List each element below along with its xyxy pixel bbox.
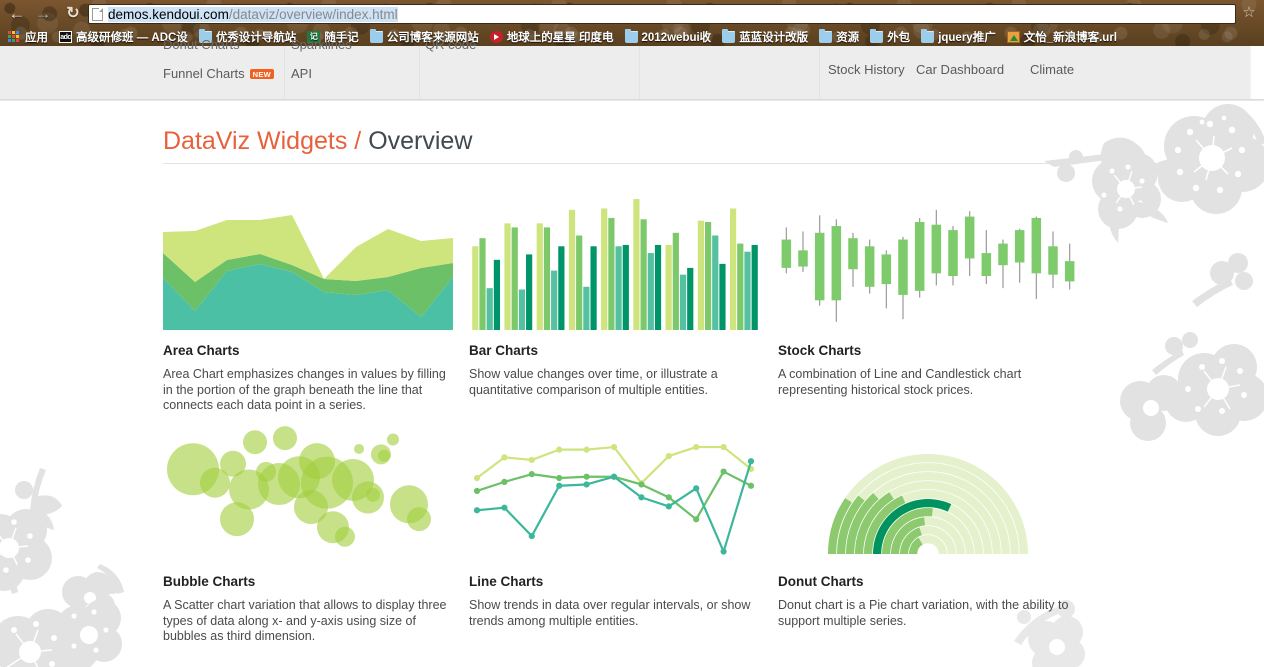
area-chart-thumbnail[interactable] xyxy=(163,195,453,330)
candle-body xyxy=(832,226,842,300)
forward-arrow-icon[interactable]: → xyxy=(32,3,54,25)
menu-column-5: Stock History Car Dashboard Climate xyxy=(820,46,1250,100)
line-marker xyxy=(638,494,644,500)
card-description: A combination of Line and Candlestick ch… xyxy=(778,367,1078,398)
bar-series-light xyxy=(698,221,704,330)
star-icon[interactable]: ☆ xyxy=(1240,4,1258,22)
bubble-chart-svg xyxy=(163,426,453,561)
bar-chart-svg xyxy=(469,195,759,330)
bar-series-teal xyxy=(680,275,686,330)
bar-series-light xyxy=(504,223,510,330)
page-document-icon xyxy=(92,8,103,21)
card-title: Line Charts xyxy=(469,574,759,589)
page-content: DataViz Widgets / Overview Area Charts A… xyxy=(0,101,1264,667)
line-marker xyxy=(638,481,644,487)
bar-series-light xyxy=(666,245,672,330)
page-title-subtitle: Overview xyxy=(368,127,472,155)
menu-column-3: QR code xyxy=(420,46,640,100)
card-area-charts[interactable]: Area Charts Area Chart emphasizes change… xyxy=(163,195,453,414)
bar-series-teal xyxy=(519,290,525,331)
bar-series-light xyxy=(633,199,639,330)
bar-series-green xyxy=(608,218,614,330)
menu-item-car-dashboard[interactable]: Car Dashboard xyxy=(916,62,1004,77)
bubble-point xyxy=(366,488,380,502)
bar-series-green xyxy=(673,233,679,330)
menu-item-api[interactable]: API xyxy=(291,66,312,81)
bar-series-teal xyxy=(551,271,557,330)
bar-series-green xyxy=(641,219,647,330)
bookmark-item[interactable]: jquery推广 xyxy=(921,29,996,45)
donut-chart-svg xyxy=(778,426,1078,561)
line-marker xyxy=(501,479,507,485)
line-marker xyxy=(584,474,590,480)
video-play-icon xyxy=(490,31,503,43)
bar-series-green xyxy=(705,222,711,330)
page-title-brand: DataViz Widgets xyxy=(163,127,347,155)
bar-series-teal xyxy=(712,236,718,331)
candle-body xyxy=(798,250,808,266)
bubble-point xyxy=(407,507,431,531)
line-marker xyxy=(666,503,672,509)
bar-series-light xyxy=(537,223,543,330)
bar-series-teal xyxy=(648,253,654,330)
bar-series-teal xyxy=(616,246,622,330)
card-title: Bubble Charts xyxy=(163,574,453,589)
card-donut-charts[interactable]: Donut Charts Donut chart is a Pie chart … xyxy=(778,426,1078,629)
line-marker xyxy=(584,447,590,453)
menu-item-qr-code[interactable]: QR code xyxy=(425,37,476,52)
line-marker xyxy=(693,444,699,450)
line-marker xyxy=(474,475,480,481)
url-host: demos.kendoui.com xyxy=(108,7,229,22)
site-dropdown-menu[interactable]: Donut Charts Funnel ChartsNEW Sparklines… xyxy=(0,46,1250,100)
line-marker xyxy=(556,475,562,481)
bookmark-item[interactable]: 蓝蓝设计改版 xyxy=(722,29,808,45)
bar-series-dark xyxy=(526,254,532,330)
card-title: Bar Charts xyxy=(469,343,759,358)
stock-chart-svg xyxy=(778,195,1078,330)
reload-icon[interactable]: ↻ xyxy=(62,3,84,25)
url-path: /dataviz/overview/index.html xyxy=(229,7,398,22)
folder-icon xyxy=(921,31,934,43)
bubble-point xyxy=(354,444,364,454)
url-text: demos.kendoui.com/dataviz/overview/index… xyxy=(108,7,398,22)
new-badge: NEW xyxy=(250,69,274,79)
line-marker xyxy=(501,505,507,511)
line-marker xyxy=(693,516,699,522)
candle-body xyxy=(898,240,908,295)
bar-series-dark xyxy=(655,245,661,330)
bar-series-green xyxy=(544,227,550,330)
bar-series-light xyxy=(730,209,736,331)
menu-column-2: Sparklines API xyxy=(285,46,420,100)
menu-item-climate[interactable]: Climate xyxy=(1030,62,1074,77)
card-title: Donut Charts xyxy=(778,574,1078,589)
card-line-charts[interactable]: Line Charts Show trends in data over reg… xyxy=(469,426,759,629)
line-chart-thumbnail[interactable] xyxy=(469,426,759,561)
line-marker xyxy=(666,453,672,459)
bar-series-teal xyxy=(583,287,589,330)
bookmark-item[interactable]: 资源 xyxy=(819,29,859,45)
bookmark-item[interactable]: 应用 xyxy=(8,29,48,45)
folder-icon xyxy=(370,31,383,43)
bar-series-dark xyxy=(752,245,758,330)
bookmark-label: 外包 xyxy=(887,29,910,45)
line-marker xyxy=(693,485,699,491)
bookmark-item[interactable]: 地球上的星星 印度电 xyxy=(490,29,614,45)
bookmark-label: 地球上的星星 印度电 xyxy=(507,29,614,45)
page-title-separator: / xyxy=(347,127,368,155)
candle-body xyxy=(865,246,875,286)
bookmark-item[interactable]: 文怡_新浪博客.url xyxy=(1007,29,1117,45)
stock-chart-thumbnail[interactable] xyxy=(778,195,1078,330)
line-marker xyxy=(474,488,480,494)
candle-body xyxy=(882,254,892,284)
bookmark-label: jquery推广 xyxy=(938,29,996,45)
folder-icon xyxy=(870,31,883,43)
candle-body xyxy=(998,244,1008,266)
bubble-point xyxy=(387,434,399,446)
bar-series-light xyxy=(601,209,607,331)
line-marker xyxy=(611,474,617,480)
line-chart-svg xyxy=(469,426,759,561)
donut-hole xyxy=(922,548,935,561)
menu-item-sparklines[interactable]: Sparklines xyxy=(291,37,352,52)
bubble-point xyxy=(273,426,297,450)
sina-blog-icon xyxy=(1007,31,1020,43)
bar-chart-thumbnail[interactable] xyxy=(469,195,759,330)
card-description: Show trends in data over regular interva… xyxy=(469,598,759,629)
card-title: Stock Charts xyxy=(778,343,1078,358)
menu-item-funnel-charts[interactable]: Funnel ChartsNEW xyxy=(163,66,274,81)
menu-item-label: Funnel Charts xyxy=(163,66,245,81)
bar-series-teal xyxy=(487,288,493,330)
line-marker xyxy=(529,457,535,463)
menu-column-1: Donut Charts Funnel ChartsNEW xyxy=(163,46,285,100)
candle-body xyxy=(982,253,992,276)
folder-icon xyxy=(625,31,638,43)
card-bar-charts[interactable]: Bar Charts Show value changes over time,… xyxy=(469,195,759,398)
adc-icon: adc xyxy=(59,31,72,43)
page-title: DataViz Widgets / Overview xyxy=(163,127,472,156)
bar-series-dark xyxy=(687,268,693,330)
candle-body xyxy=(1015,230,1025,262)
folder-icon xyxy=(722,31,735,43)
bar-series-dark xyxy=(719,264,725,330)
card-description: Show value changes over time, or illustr… xyxy=(469,367,759,398)
line-marker xyxy=(584,481,590,487)
candle-body xyxy=(1032,218,1042,273)
bookmark-label: 资源 xyxy=(836,29,859,45)
browser-toolbar: ← → ↻ demos.kendoui.com/dataviz/overview… xyxy=(0,0,1264,28)
line-marker xyxy=(556,447,562,453)
bar-series-green xyxy=(576,236,582,331)
line-marker xyxy=(721,548,727,554)
bubble-point xyxy=(335,527,355,547)
line-marker xyxy=(666,494,672,500)
candle-body xyxy=(948,230,958,276)
bar-series-green xyxy=(512,227,518,330)
candle-body xyxy=(848,238,858,269)
line-marker xyxy=(748,483,754,489)
bookmark-label: 文怡_新浪博客.url xyxy=(1024,29,1117,45)
candle-body xyxy=(965,217,975,259)
candle-body xyxy=(915,222,925,291)
bar-series-dark xyxy=(623,245,629,330)
line-marker xyxy=(556,483,562,489)
bar-series-light xyxy=(472,246,478,330)
line-marker xyxy=(611,444,617,450)
bar-series-dark xyxy=(494,260,500,330)
menu-item-stock-history[interactable]: Stock History xyxy=(828,62,905,77)
folder-icon xyxy=(819,31,832,43)
bubble-point xyxy=(378,450,390,462)
card-stock-charts[interactable]: Stock Charts A combination of Line and C… xyxy=(778,195,1078,398)
bar-series-green xyxy=(737,244,743,330)
address-bar[interactable]: demos.kendoui.com/dataviz/overview/index… xyxy=(88,4,1236,24)
line-marker xyxy=(748,458,754,464)
bar-series-dark xyxy=(590,246,596,330)
candle-body xyxy=(932,225,942,274)
bookmark-label: 应用 xyxy=(25,29,48,45)
area-chart-svg xyxy=(163,195,453,330)
candle-body xyxy=(782,240,792,268)
bar-series-green xyxy=(479,238,485,330)
bar-series-dark xyxy=(558,246,564,330)
candle-body xyxy=(815,233,825,300)
card-description: Area Chart emphasizes changes in values … xyxy=(163,367,453,414)
blossom-watermark-bottom-left xyxy=(0,456,157,667)
back-arrow-icon[interactable]: ← xyxy=(6,3,28,25)
line-marker xyxy=(721,468,727,474)
menu-item-donut-charts[interactable]: Donut Charts xyxy=(163,37,240,52)
title-divider xyxy=(163,163,1051,164)
bookmark-label: 2012webui收 xyxy=(642,29,712,45)
menu-column-4 xyxy=(640,46,820,100)
apps-grid-icon xyxy=(8,31,21,43)
bar-series-light xyxy=(569,210,575,330)
card-description: A Scatter chart variation that allows to… xyxy=(163,598,453,645)
bookmark-item[interactable]: 外包 xyxy=(870,29,910,45)
bar-series-teal xyxy=(744,252,750,330)
card-description: Donut chart is a Pie chart variation, wi… xyxy=(778,598,1078,629)
bubble-point xyxy=(243,430,267,454)
bookmark-label: 蓝蓝设计改版 xyxy=(739,29,808,45)
candle-body xyxy=(1048,246,1058,274)
bubble-chart-thumbnail[interactable] xyxy=(163,426,453,561)
line-marker xyxy=(529,533,535,539)
candle-body xyxy=(1065,261,1075,281)
card-title: Area Charts xyxy=(163,343,453,358)
line-marker xyxy=(721,444,727,450)
line-marker xyxy=(474,507,480,513)
bookmark-item[interactable]: 2012webui收 xyxy=(625,29,712,45)
line-marker xyxy=(529,471,535,477)
card-bubble-charts[interactable]: Bubble Charts A Scatter chart variation … xyxy=(163,426,453,645)
donut-chart-thumbnail[interactable] xyxy=(778,426,1078,561)
line-marker xyxy=(501,454,507,460)
